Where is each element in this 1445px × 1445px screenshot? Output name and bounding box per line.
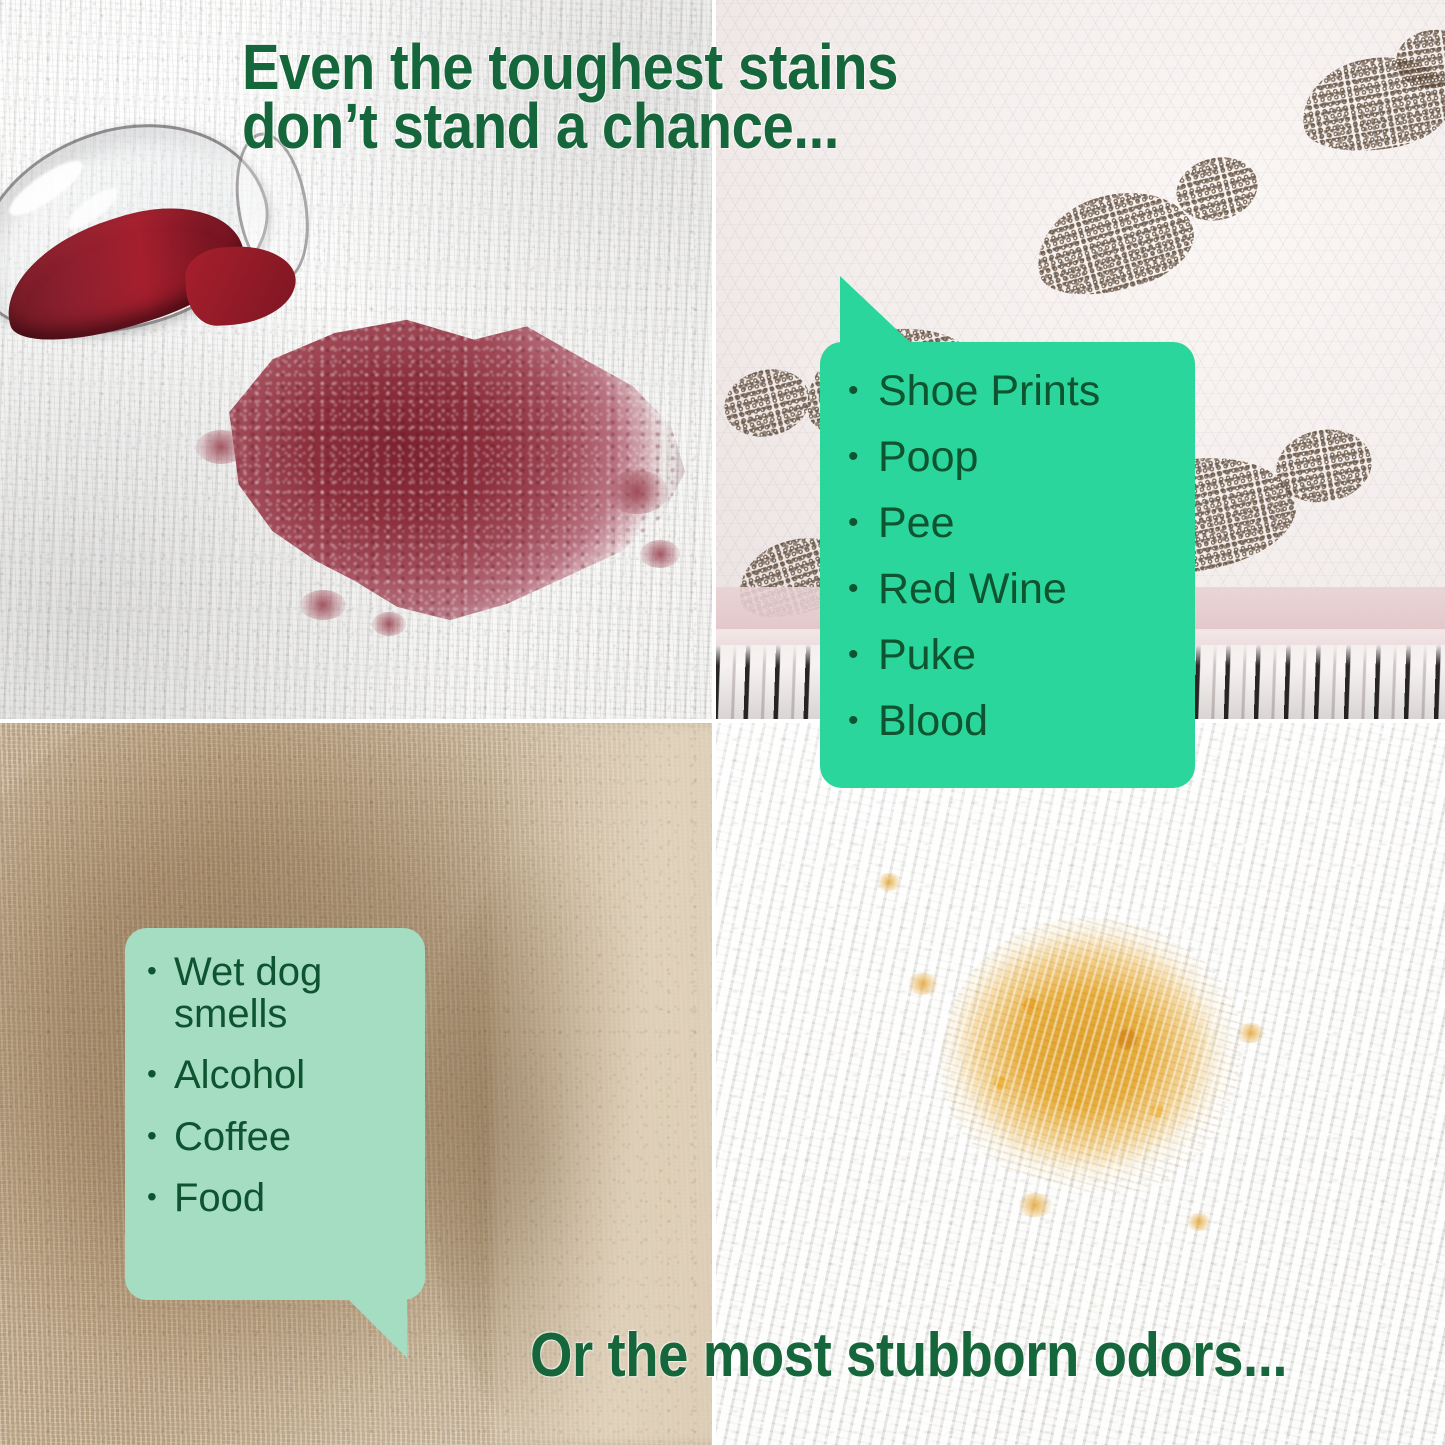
stain-list-item-label: Shoe Prints [878,370,1100,413]
bullet-icon: • [147,1117,174,1150]
bullet-icon: • [147,952,174,985]
headline-top: Even the toughest stains don’t stand a c… [242,38,898,156]
odor-list-item-label: Food [174,1178,265,1220]
stain-list-item: •Red Wine [848,568,1195,611]
stain-fleck [876,873,902,891]
stain-list-item-label: Pee [878,502,955,545]
bullet-icon: • [848,634,878,670]
headline-bottom: Or the most stubborn odors... [530,1327,1287,1384]
stain-fleck [1186,1213,1212,1231]
bullet-icon: • [848,700,878,736]
bullet-icon: • [848,502,878,538]
bullet-icon: • [848,436,878,472]
wine-splatter-drop [196,430,246,464]
speech-bubble-tail [840,276,914,346]
bullet-icon: • [147,1178,174,1211]
yellow-food-stain [941,918,1241,1193]
stain-fleck [1016,1193,1054,1217]
odor-list-item: •Wet dog smells [147,952,425,1035]
odor-list-item: •Coffee [147,1117,425,1159]
stain-list-item: •Poop [848,436,1195,479]
odor-list-item: •Alcohol [147,1055,425,1097]
stain-list-item: •Puke [848,634,1195,677]
odor-list-item: •Food [147,1178,425,1220]
stain-list-item-label: Puke [878,634,976,677]
odor-list-item-label: Alcohol [174,1055,305,1097]
stain-fleck [906,973,940,995]
stains-list: •Shoe Prints•Poop•Pee•Red Wine•Puke•Bloo… [820,342,1195,743]
odor-list-item-label: Coffee [174,1117,291,1159]
stain-list-item: •Shoe Prints [848,370,1195,413]
stain-list-item-label: Blood [878,700,988,743]
odors-list: •Wet dog smells•Alcohol•Coffee•Food [125,928,425,1220]
wine-splatter-drop [640,540,680,568]
speech-bubble-tail [345,1296,407,1358]
stain-list-item: •Pee [848,502,1195,545]
infographic-canvas: Even the toughest stains don’t stand a c… [0,0,1445,1445]
stain-fleck [1236,1023,1266,1043]
odor-list-item-label: Wet dog smells [174,952,389,1035]
stain-list-item-label: Red Wine [878,568,1067,611]
stain-list-item: •Blood [848,700,1195,743]
wine-splatter-drop [606,470,668,514]
wine-splatter-drop [372,612,406,636]
bullet-icon: • [848,568,878,604]
wine-splatter-drop [300,590,346,620]
odors-speech-bubble: •Wet dog smells•Alcohol•Coffee•Food [125,928,425,1300]
bullet-icon: • [848,370,878,406]
bullet-icon: • [147,1055,174,1088]
stain-list-item-label: Poop [878,436,978,479]
stains-speech-bubble: •Shoe Prints•Poop•Pee•Red Wine•Puke•Bloo… [820,342,1195,788]
